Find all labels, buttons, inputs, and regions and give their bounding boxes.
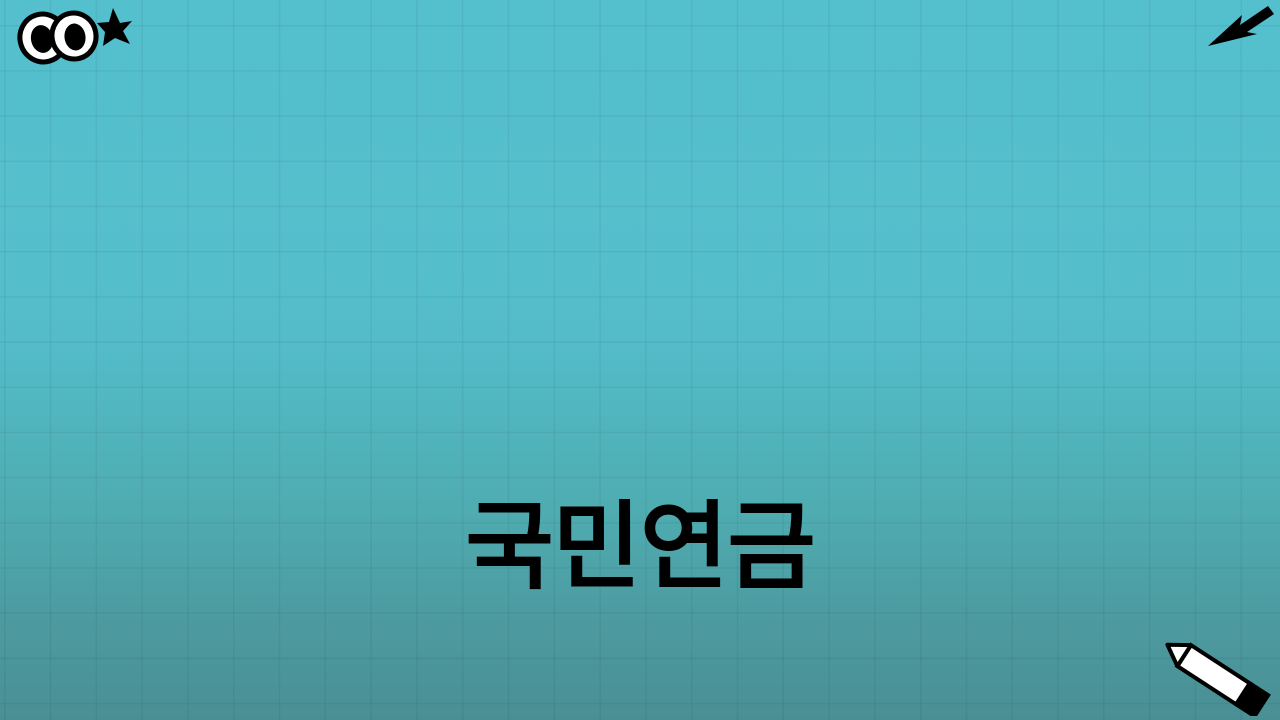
arrow-svg [1202, 2, 1278, 58]
slide-canvas: 국민연금 납부액으로 투자했다면 [0, 0, 1280, 720]
star-icon [97, 8, 132, 46]
googly-eyes-icon [12, 4, 132, 68]
page-title: 국민연금 납부액으로 투자했다면 [0, 232, 1280, 720]
arrow-pointing-down-left-icon [1202, 2, 1278, 58]
arrow-shape [1208, 6, 1274, 46]
headline-line-1: 국민연금 [0, 484, 1280, 610]
googly-eyes-logo [12, 4, 132, 68]
